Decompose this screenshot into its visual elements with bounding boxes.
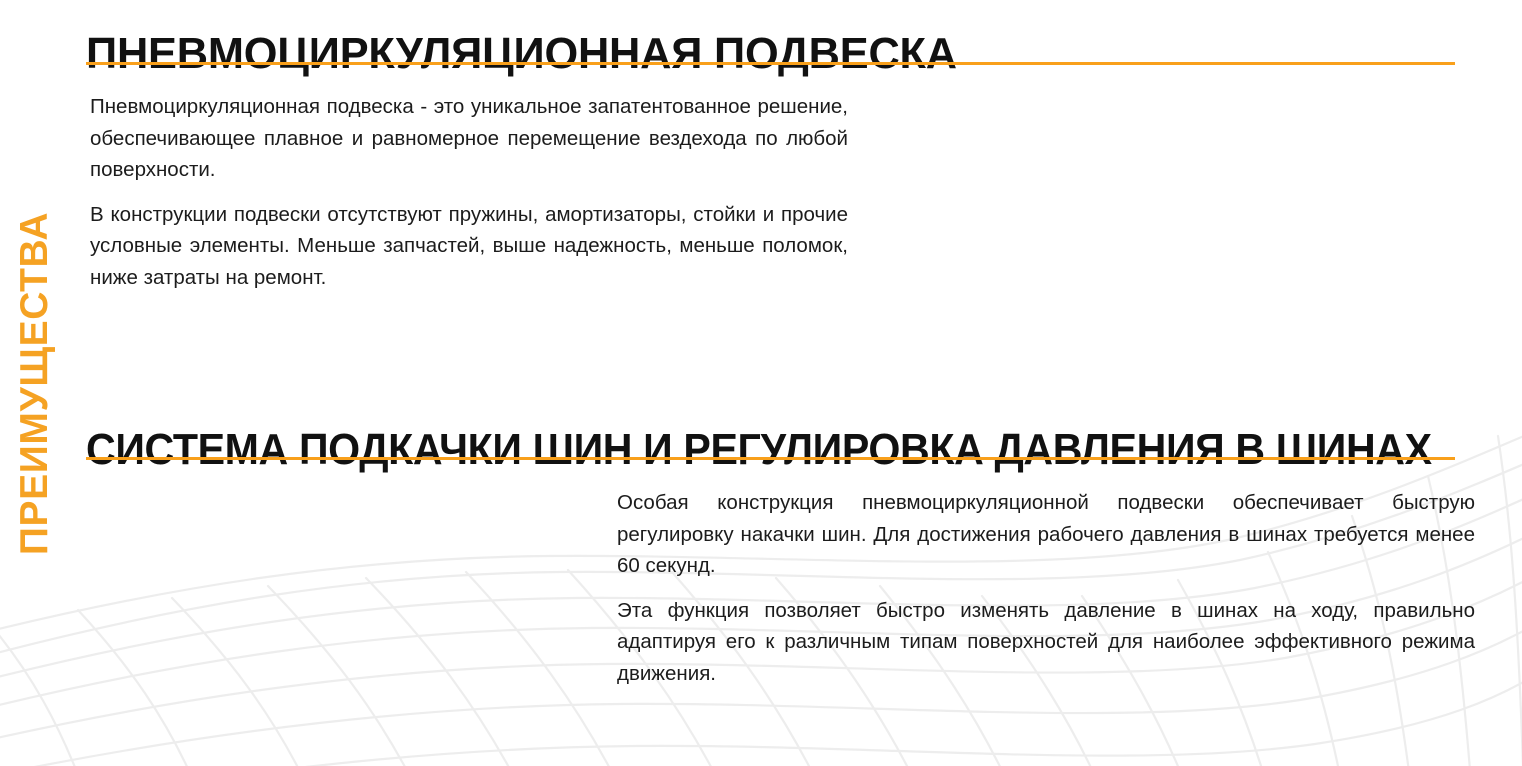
- side-label-text: ПРЕИМУЩЕСТВА: [16, 211, 55, 554]
- section-side-label: ПРЕИМУЩЕСТВА: [0, 0, 70, 766]
- paragraph: В конструкции подвески отсутствуют пружи…: [90, 199, 848, 294]
- slide-root: ПРЕИМУЩЕСТВА ПНЕВМОЦИРКУЛЯЦИОННАЯ ПОДВЕС…: [0, 0, 1522, 766]
- section-2-text-block: Особая конструкция пневмоциркуляционной …: [617, 487, 1475, 689]
- section-heading-pneumatic-suspension: ПНЕВМОЦИРКУЛЯЦИОННАЯ ПОДВЕСКА: [86, 32, 957, 76]
- section-divider-2: [86, 457, 1455, 460]
- section-1-text-block: Пневмоциркуляционная подвеска - это уник…: [90, 91, 848, 293]
- section-divider-1: [86, 62, 1455, 65]
- section-heading-tire-inflation-system: СИСТЕМА ПОДКАЧКИ ШИН И РЕГУЛИРОВКА ДАВЛЕ…: [86, 428, 1432, 472]
- slide-content: ПНЕВМОЦИРКУЛЯЦИОННАЯ ПОДВЕСКА Пневмоцирк…: [0, 0, 1522, 766]
- paragraph: Пневмоциркуляционная подвеска - это уник…: [90, 91, 848, 186]
- paragraph: Особая конструкция пневмоциркуляционной …: [617, 487, 1475, 582]
- paragraph: Эта функция позволяет быстро изменять да…: [617, 595, 1475, 690]
